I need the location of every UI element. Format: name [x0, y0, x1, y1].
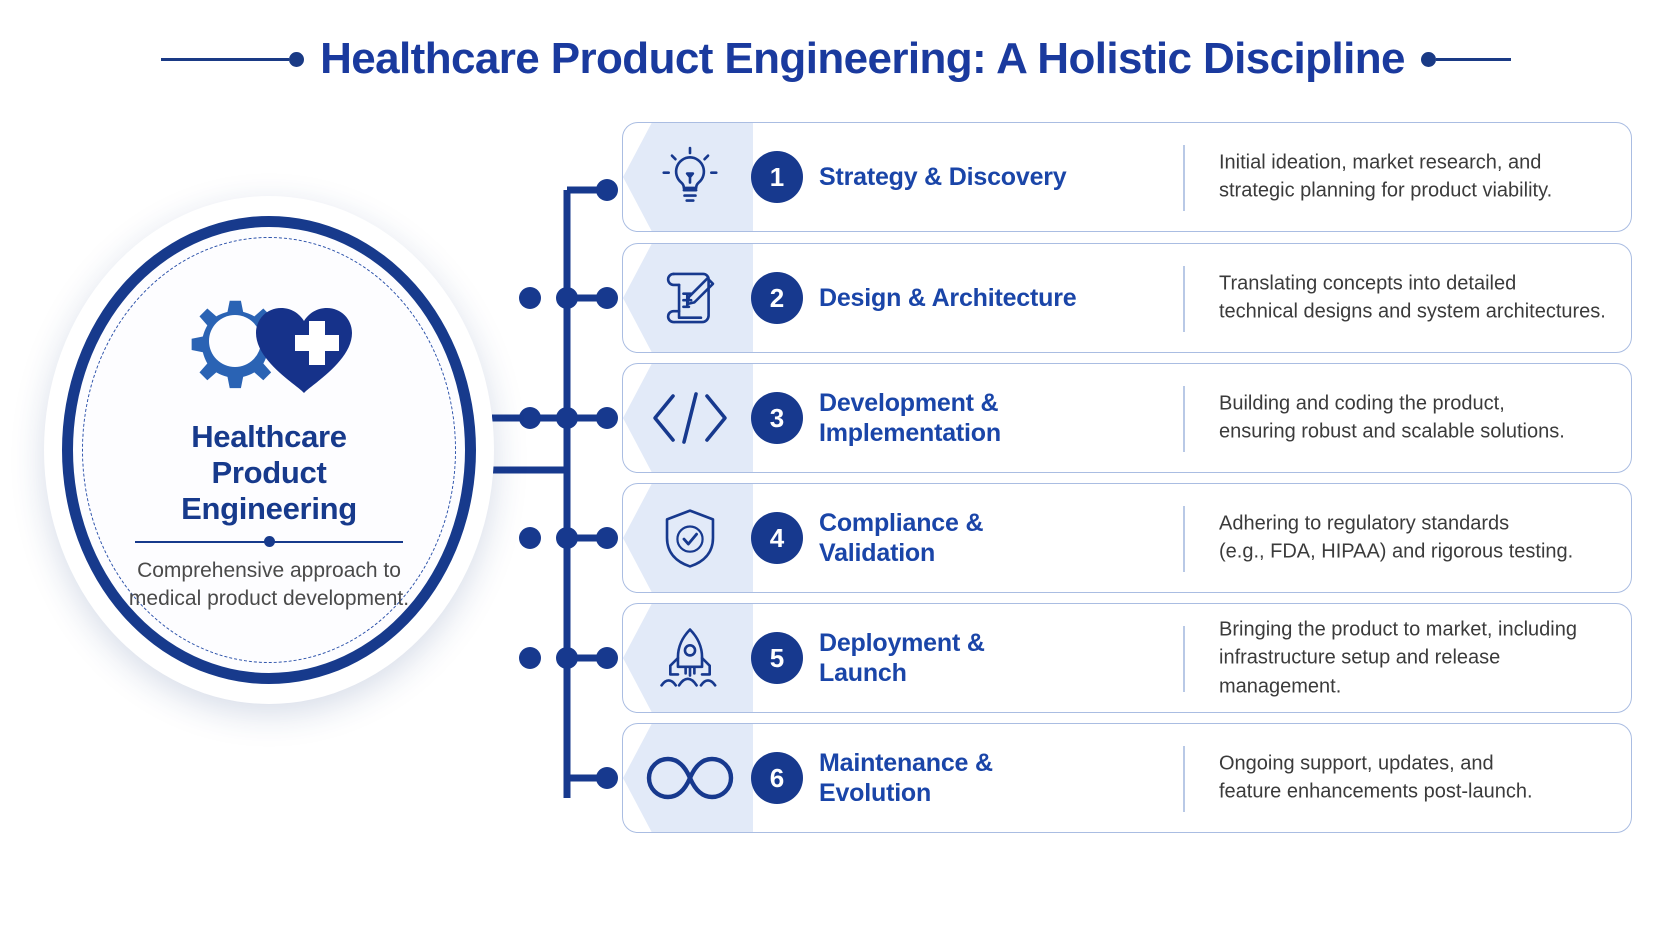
step-title: Deployment &Launch	[819, 628, 1169, 688]
shield-check-icon	[643, 496, 737, 580]
step-description: Ongoing support, updates, andfeature enh…	[1219, 750, 1619, 807]
step-title: Maintenance &Evolution	[819, 748, 1169, 808]
step-title: Development &Implementation	[819, 388, 1169, 448]
step-hexagon	[623, 123, 753, 231]
step-description: Initial ideation, market research, andst…	[1219, 149, 1619, 206]
page-header: Healthcare Product Engineering: A Holist…	[0, 0, 1672, 118]
step-row[interactable]: 2Design & ArchitectureTranslating concep…	[622, 243, 1632, 353]
step-hexagon	[623, 604, 753, 712]
gear-heart-cross-icon	[169, 278, 369, 409]
step-row[interactable]: 4Compliance &ValidationAdhering to regul…	[622, 483, 1632, 593]
step-divider	[1183, 746, 1185, 812]
step-divider	[1183, 506, 1185, 572]
step-number-badge: 1	[751, 151, 803, 203]
hub-subtitle: Comprehensive approach to medical produc…	[119, 557, 419, 613]
step-title: Compliance &Validation	[819, 508, 1169, 568]
step-description: Building and coding the product,ensuring…	[1219, 390, 1619, 447]
step-title: Strategy & Discovery	[819, 162, 1169, 192]
step-divider	[1183, 386, 1185, 452]
step-number-badge: 6	[751, 752, 803, 804]
step-divider	[1183, 145, 1185, 211]
step-description: Bringing the product to market, includin…	[1219, 615, 1619, 700]
step-divider	[1183, 626, 1185, 692]
dot-icon-left	[289, 52, 304, 67]
step-divider	[1183, 266, 1185, 332]
blueprint-pencil-icon	[643, 256, 737, 340]
step-row[interactable]: 5Deployment &LaunchBringing the product …	[622, 603, 1632, 713]
step-number-badge: 2	[751, 272, 803, 324]
step-hexagon	[623, 484, 753, 592]
dot-icon-right	[1421, 52, 1436, 67]
step-title: Design & Architecture	[819, 283, 1169, 313]
step-row[interactable]: 6Maintenance &EvolutionOngoing support, …	[622, 723, 1632, 833]
step-number-badge: 5	[751, 632, 803, 684]
header-rule-left	[161, 58, 289, 61]
step-row[interactable]: 1Strategy & DiscoveryInitial ideation, m…	[622, 122, 1632, 232]
code-brackets-icon	[643, 376, 737, 460]
hub-title: HealthcareProductEngineering	[181, 419, 357, 527]
step-hexagon	[623, 724, 753, 832]
step-description: Translating concepts into detailedtechni…	[1219, 270, 1619, 327]
step-hexagon	[623, 244, 753, 352]
step-row[interactable]: 3Development &ImplementationBuilding and…	[622, 363, 1632, 473]
step-description: Adhering to regulatory standards(e.g., F…	[1219, 510, 1619, 567]
step-hexagon	[623, 364, 753, 472]
lightbulb-icon	[643, 135, 737, 219]
step-number-badge: 3	[751, 392, 803, 444]
central-hub: HealthcareProductEngineering Comprehensi…	[44, 196, 494, 704]
step-number-badge: 4	[751, 512, 803, 564]
rocket-icon	[643, 616, 737, 700]
hub-divider	[135, 541, 403, 543]
infinity-icon	[643, 736, 737, 820]
page-title: Healthcare Product Engineering: A Holist…	[304, 37, 1421, 81]
header-rule-right	[1436, 58, 1511, 61]
